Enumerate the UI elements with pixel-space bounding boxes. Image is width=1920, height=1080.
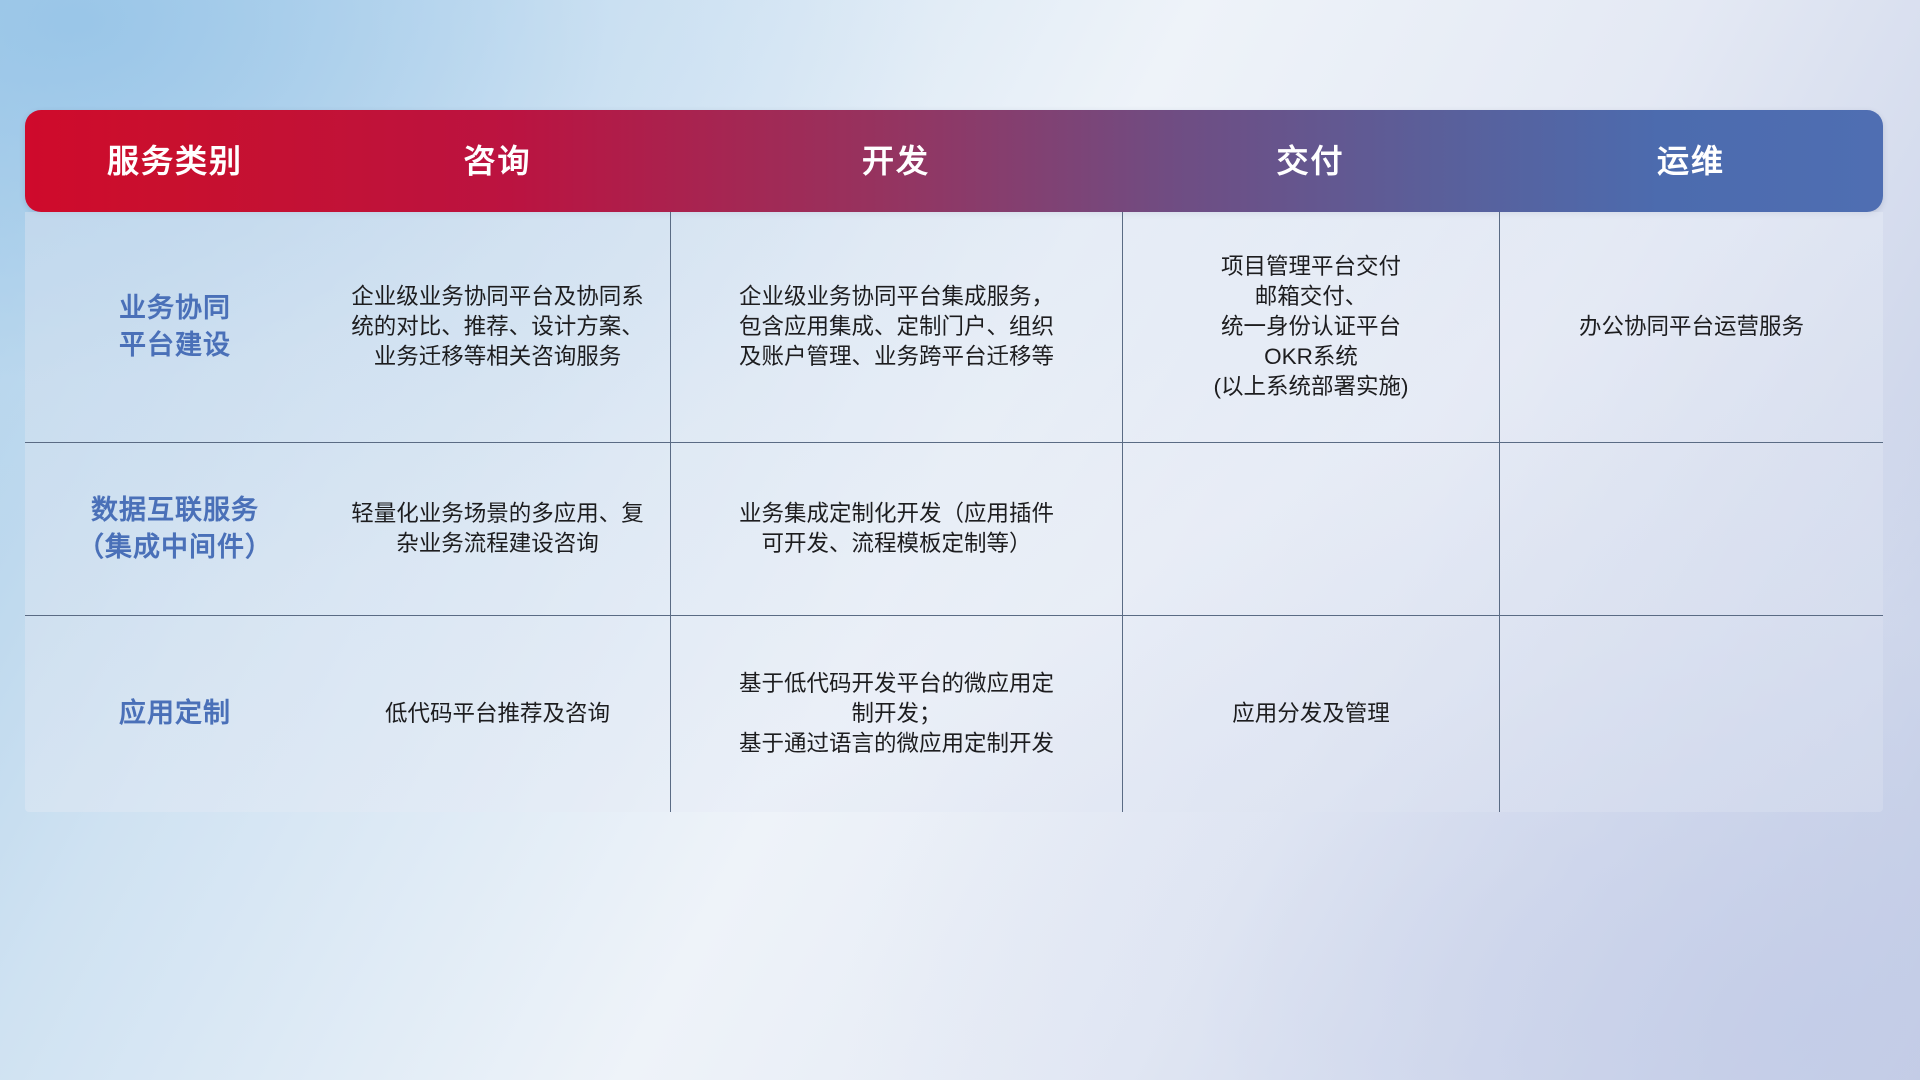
column-header-delivery: 交付 [1122,145,1499,177]
cell-operations [1499,616,1883,812]
table-row: 应用定制 低代码平台推荐及咨询 基于低代码开发平台的微应用定 制开发； 基于通过… [25,615,1883,812]
column-header-operations: 运维 [1499,145,1883,177]
cell-operations: 办公协同平台运营服务 [1499,212,1883,442]
cell-consulting: 低代码平台推荐及咨询 [325,616,670,812]
cell-category: 业务协同 平台建设 [25,212,325,442]
cell-category: 数据互联服务 （集成中间件） [25,443,325,615]
table-body: 业务协同 平台建设 企业级业务协同平台及协同系 统的对比、推荐、设计方案、 业务… [25,212,1883,812]
column-header-consulting: 咨询 [325,145,670,177]
cell-consulting: 企业级业务协同平台及协同系 统的对比、推荐、设计方案、 业务迁移等相关咨询服务 [325,212,670,442]
column-header-service-category: 服务类别 [25,145,325,177]
service-matrix-table: 服务类别 咨询 开发 交付 运维 业务协同 平台建设 企业级业务协同平台及协同系… [25,110,1883,778]
cell-category: 应用定制 [25,616,325,812]
cell-development: 基于低代码开发平台的微应用定 制开发； 基于通过语言的微应用定制开发 [670,616,1122,812]
cell-delivery [1122,443,1499,615]
table-row: 业务协同 平台建设 企业级业务协同平台及协同系 统的对比、推荐、设计方案、 业务… [25,212,1883,442]
table-row: 数据互联服务 （集成中间件） 轻量化业务场景的多应用、复 杂业务流程建设咨询 业… [25,442,1883,615]
column-header-development: 开发 [670,145,1122,177]
table-header-row: 服务类别 咨询 开发 交付 运维 [25,110,1883,212]
cell-development: 企业级业务协同平台集成服务， 包含应用集成、定制门户、组织 及账户管理、业务跨平… [670,212,1122,442]
cell-development: 业务集成定制化开发（应用插件 可开发、流程模板定制等） [670,443,1122,615]
cell-operations [1499,443,1883,615]
cell-consulting: 轻量化业务场景的多应用、复 杂业务流程建设咨询 [325,443,670,615]
cell-delivery: 项目管理平台交付 邮箱交付、 统一身份认证平台 OKR系统 (以上系统部署实施) [1122,212,1499,442]
cell-delivery: 应用分发及管理 [1122,616,1499,812]
